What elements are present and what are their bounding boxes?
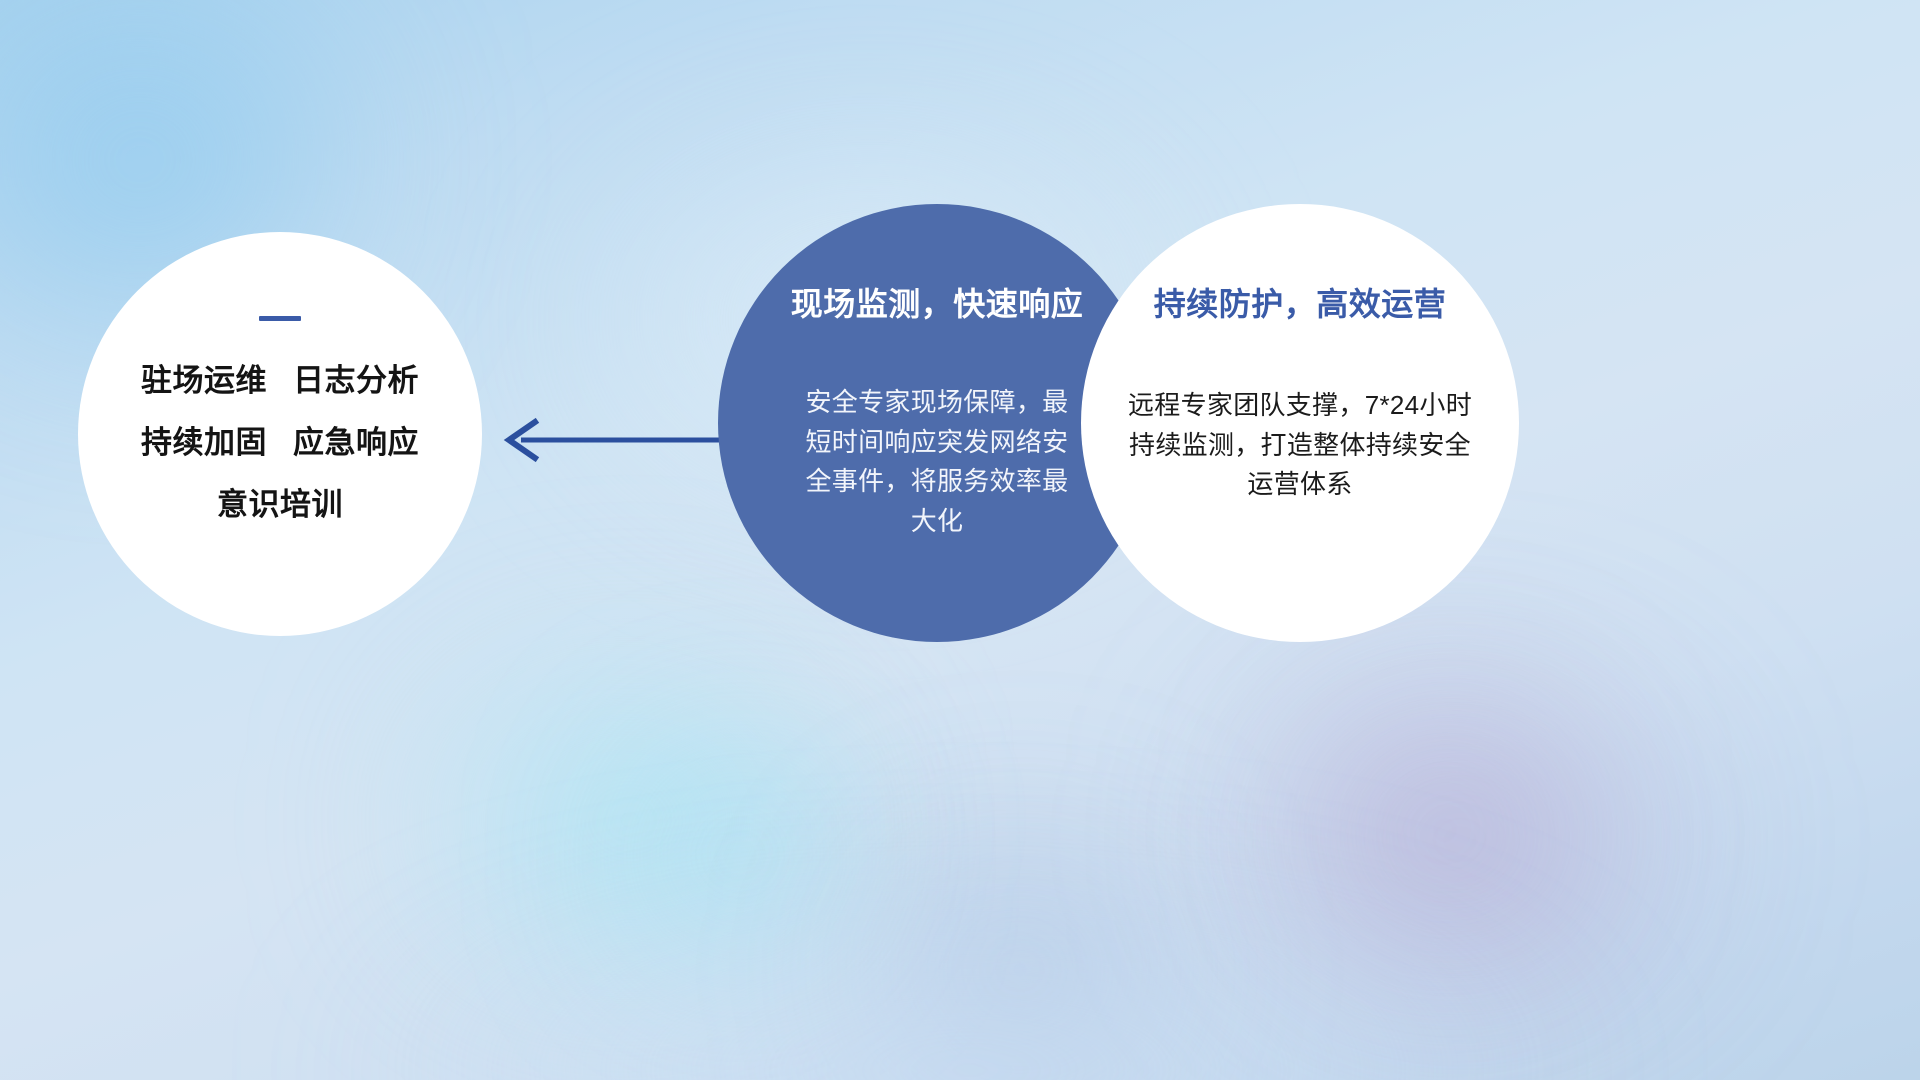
card-left-tag-1: 驻场运维 [141,363,267,398]
slide-canvas: 现场监测，快速响应 安全专家现场保障，最短时间响应突发网络安全事件，将服务效率最… [0,0,1920,1080]
card-left-line-2: 持续加固应急响应 [141,427,419,458]
card-left-line-3: 意识培训 [217,489,343,520]
card-right-content: 持续防护，高效运营 远程专家团队支撑，7*24小时持续监测，打造整体持续安全运营… [1081,204,1519,642]
connector-arrow [495,408,725,472]
card-right[interactable]: 持续防护，高效运营 远程专家团队支撑，7*24小时持续监测，打造整体持续安全运营… [1081,204,1519,642]
card-left-tag-2: 日志分析 [293,363,419,398]
card-left-tag-3: 持续加固 [141,425,267,460]
card-left-tag-4: 应急响应 [293,425,419,460]
card-middle-title: 现场监测，快速响应 [791,288,1084,320]
card-left-content: 驻场运维日志分析 持续加固应急响应 意识培训 [78,232,482,636]
left-arrow-icon [495,408,725,472]
card-right-title: 持续防护，高效运营 [1154,288,1447,320]
card-middle-body: 安全专家现场保障，最短时间响应突发网络安全事件，将服务效率最大化 [801,383,1073,541]
horizontal-dash-icon [259,316,301,321]
card-right-body: 远程专家团队支撑，7*24小时持续监测，打造整体持续安全运营体系 [1121,386,1479,505]
card-left-line-1: 驻场运维日志分析 [141,365,419,396]
card-left[interactable]: 驻场运维日志分析 持续加固应急响应 意识培训 [78,232,482,636]
